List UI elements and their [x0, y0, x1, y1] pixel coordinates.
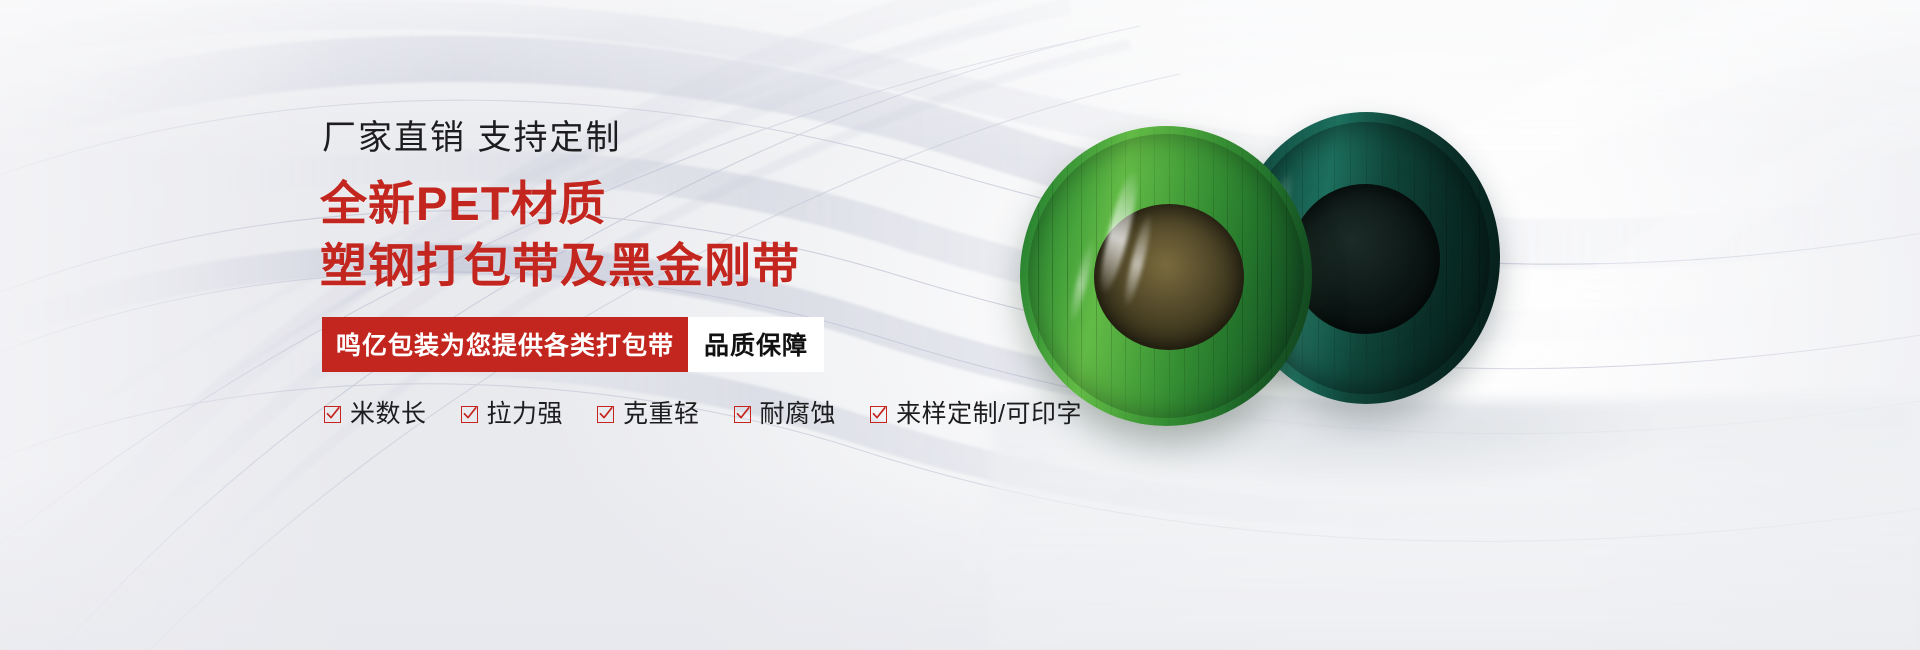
- feature-item: 克重轻: [597, 402, 700, 427]
- checkbox-checked-icon: [870, 406, 887, 423]
- banner-headline-line1: 全新PET材质: [320, 175, 1020, 233]
- dark-coil-core: [1290, 184, 1440, 334]
- feature-item: 米数长: [324, 402, 427, 427]
- green-coil: [1020, 126, 1312, 426]
- checkbox-checked-icon: [461, 406, 478, 423]
- banner-text-block: 厂家直销 支持定制 全新PET材质 塑钢打包带及黑金刚带 鸣亿包装为您提供各类打…: [320, 118, 1020, 427]
- feature-item: 耐腐蚀: [734, 402, 837, 427]
- checkbox-checked-icon: [324, 406, 341, 423]
- checkbox-checked-icon: [734, 406, 751, 423]
- banner-tag-row: 鸣亿包装为您提供各类打包带 品质保障: [322, 317, 796, 372]
- banner-tag-white-badge: 品质保障: [688, 317, 824, 372]
- checkbox-checked-icon: [597, 406, 614, 423]
- product-image-strapping-coils: [1020, 90, 1580, 450]
- feature-label: 米数长: [350, 402, 427, 427]
- feature-item: 来样定制/可印字: [870, 402, 1082, 427]
- feature-label: 克重轻: [623, 402, 700, 427]
- banner-eyebrow: 厂家直销 支持定制: [322, 118, 1020, 159]
- banner-headline-line2: 塑钢打包带及黑金刚带: [320, 237, 1020, 295]
- feature-label: 来样定制/可印字: [896, 402, 1082, 427]
- feature-item: 拉力强: [461, 402, 564, 427]
- feature-label: 拉力强: [487, 402, 564, 427]
- feature-label: 耐腐蚀: [760, 402, 837, 427]
- banner-tag-red: 鸣亿包装为您提供各类打包带: [322, 317, 688, 372]
- feature-list: 米数长 拉力强 克重轻: [324, 402, 1020, 427]
- hero-banner: 厂家直销 支持定制 全新PET材质 塑钢打包带及黑金刚带 鸣亿包装为您提供各类打…: [0, 0, 1920, 650]
